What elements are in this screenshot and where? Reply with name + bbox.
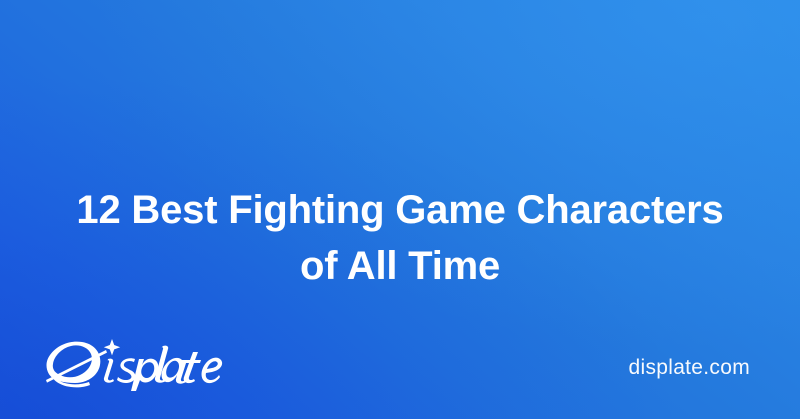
site-url-label: displate.com bbox=[629, 357, 751, 378]
displate-wordmark-glyphs bbox=[46, 339, 222, 391]
page-title-line-2: of All Time bbox=[0, 238, 800, 294]
logo-letter-t bbox=[184, 352, 201, 383]
logo-letter-s bbox=[117, 358, 135, 383]
logo-letter-p bbox=[131, 359, 158, 391]
logo-letter-a bbox=[162, 358, 187, 384]
page-title: 12 Best Fighting Game Characters of All … bbox=[0, 182, 800, 294]
page-title-line-1: 12 Best Fighting Game Characters bbox=[0, 182, 800, 238]
promo-banner: 12 Best Fighting Game Characters of All … bbox=[0, 0, 800, 419]
logo-letter-e bbox=[202, 358, 223, 383]
logo-letter-i bbox=[104, 359, 114, 383]
displate-logo[interactable] bbox=[42, 333, 224, 391]
